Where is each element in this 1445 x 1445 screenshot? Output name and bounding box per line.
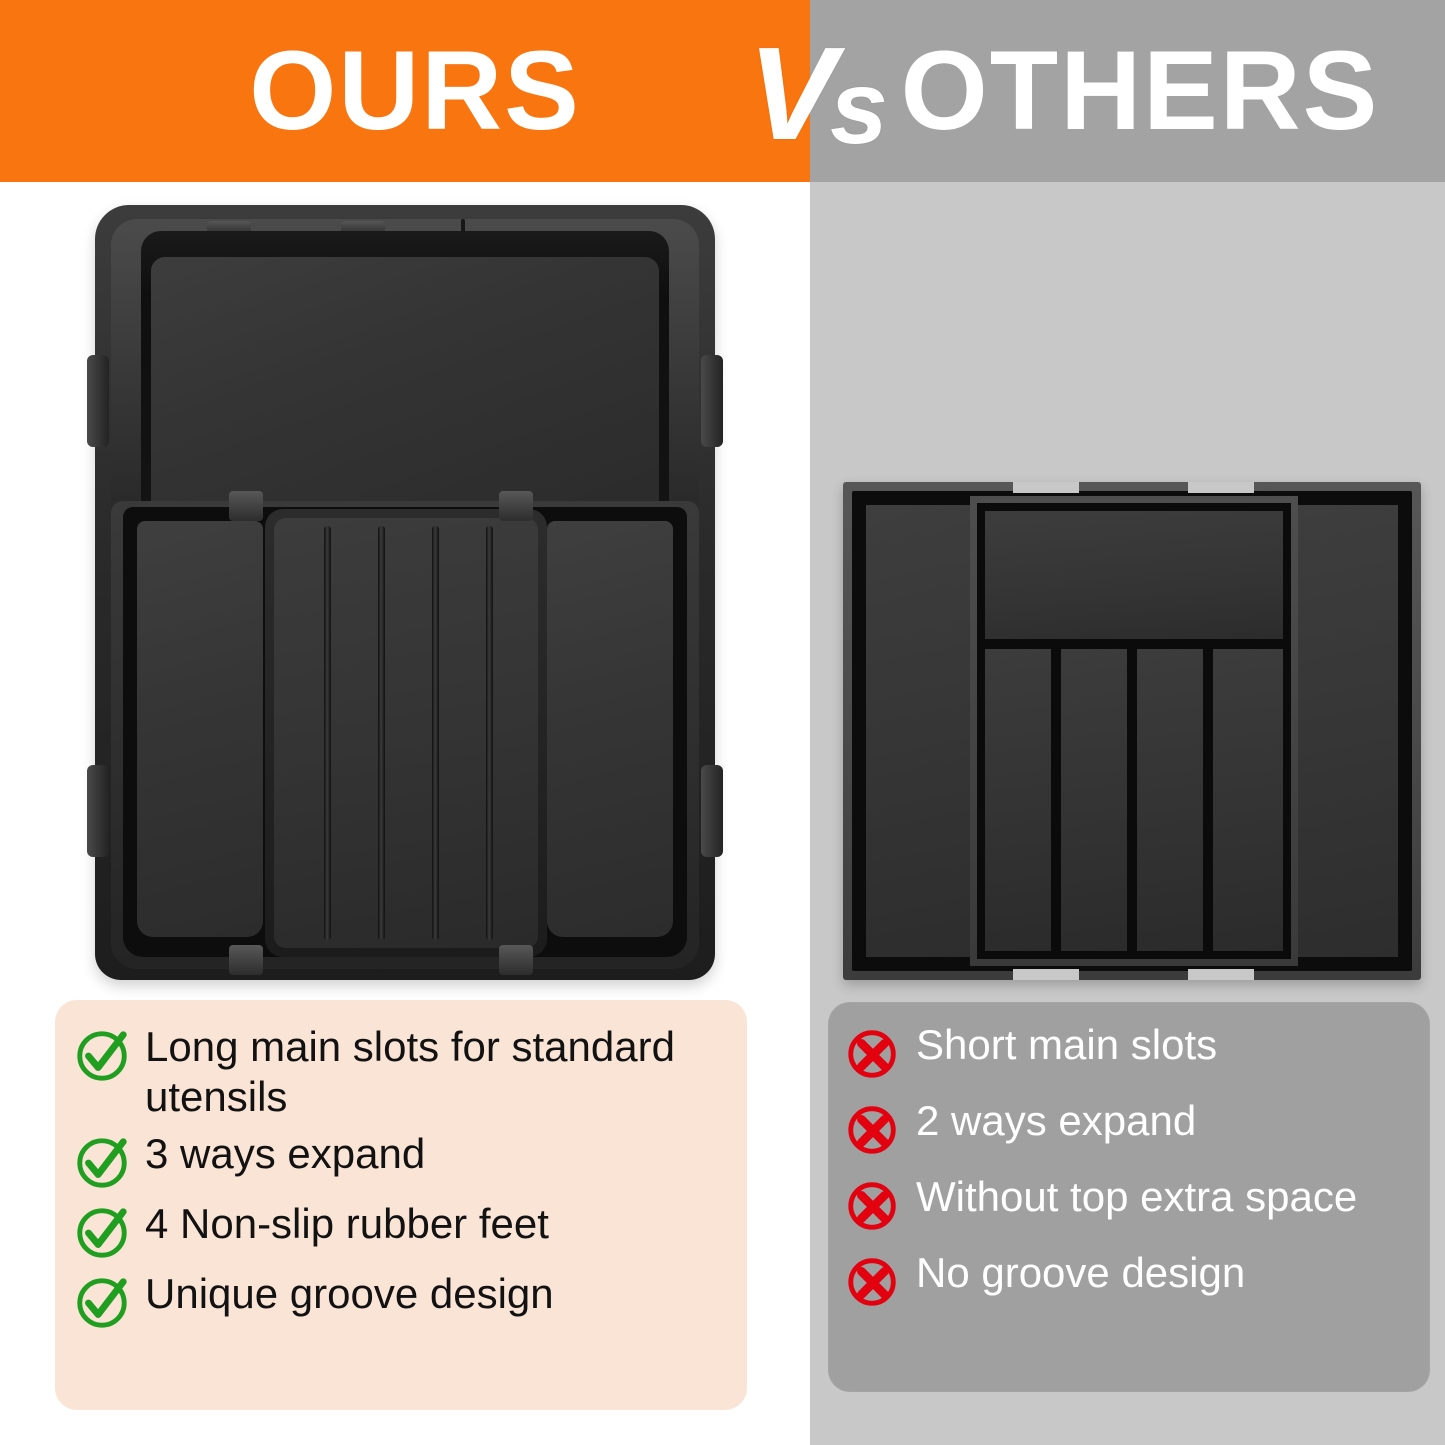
ours-rail-tab-top-left [87, 355, 109, 447]
feature-row: No groove design [844, 1248, 1408, 1310]
feature-row: Short main slots [844, 1020, 1408, 1082]
header-banner: OURS Vs OTHERS [0, 0, 1445, 182]
feature-label: No groove design [916, 1248, 1245, 1298]
others-side-compartment-right [1286, 505, 1398, 957]
product-image-others [843, 482, 1421, 980]
ours-top-well [141, 231, 669, 523]
others-slot-4 [1213, 649, 1283, 951]
header-others-label: OTHERS [905, 0, 1375, 182]
feature-row: Without top extra space [844, 1172, 1408, 1234]
others-insert-top-compartment [985, 511, 1283, 639]
feature-label: Without top extra space [916, 1172, 1357, 1222]
cross-circle-icon [844, 1252, 902, 1310]
others-slot-1 [985, 649, 1051, 951]
ours-divider-2 [378, 526, 385, 940]
comparison-infographic: OURS Vs OTHERS [0, 0, 1445, 1445]
ours-top-extra-space-compartment [111, 219, 699, 539]
check-circle-icon [73, 1133, 131, 1191]
others-slot-3 [1137, 649, 1203, 951]
ours-insert-floor [274, 518, 538, 948]
others-notch-bottom-right [1188, 969, 1254, 980]
others-notch-bottom-left [1013, 969, 1079, 980]
check-circle-icon [73, 1203, 131, 1261]
product-image-ours [95, 205, 715, 980]
cross-circle-icon [844, 1024, 902, 1082]
check-circle-icon [73, 1026, 131, 1084]
others-notch-top-left [1013, 482, 1079, 493]
others-insert-well [977, 503, 1291, 959]
ours-side-compartment-right [547, 521, 673, 937]
feature-label: Long main slots for standard utensils [145, 1022, 721, 1121]
others-notch-top-right [1188, 482, 1254, 493]
feature-row: Long main slots for standard utensils [73, 1022, 721, 1121]
others-side-compartment-left [866, 505, 978, 957]
cross-circle-icon [844, 1100, 902, 1158]
others-slot-group [985, 649, 1283, 951]
feature-label: Unique groove design [145, 1269, 554, 1319]
ours-main-slot-area [111, 501, 699, 969]
ours-rail-tab-bottom-right [701, 765, 723, 857]
feature-row: 2 ways expand [844, 1096, 1408, 1158]
versus-v: V [748, 28, 830, 160]
versus-label: Vs [748, 14, 882, 174]
feature-row: 4 Non-slip rubber feet [73, 1199, 721, 1261]
ours-divider-3 [432, 526, 439, 940]
ours-insert-tab-bottom-right [499, 945, 533, 975]
others-center-insert [970, 496, 1298, 966]
feature-label: 4 Non-slip rubber feet [145, 1199, 549, 1249]
feature-label: Short main slots [916, 1020, 1217, 1070]
ours-divider-4 [486, 526, 493, 940]
ours-side-compartment-left [137, 521, 263, 937]
ours-rail-tab-top-right [701, 355, 723, 447]
ours-main-well [123, 507, 687, 957]
feature-row: 3 ways expand [73, 1129, 721, 1191]
ours-center-insert [265, 509, 547, 957]
versus-s: s [830, 56, 882, 160]
ours-insert-tab-bottom-left [229, 945, 263, 975]
others-slot-2 [1061, 649, 1127, 951]
ours-rail-tab-bottom-left [87, 765, 109, 857]
feature-label: 2 ways expand [916, 1096, 1196, 1146]
features-card-ours: Long main slots for standard utensils 3 … [55, 1000, 747, 1410]
ours-divider-1 [324, 526, 331, 940]
feature-row: Unique groove design [73, 1269, 721, 1331]
ours-insert-tab-top-right [499, 491, 533, 521]
feature-label: 3 ways expand [145, 1129, 425, 1179]
bottom-spacer [0, 1410, 810, 1445]
ours-top-floor [151, 257, 659, 515]
check-circle-icon [73, 1273, 131, 1331]
cross-circle-icon [844, 1176, 902, 1234]
features-card-others: Short main slots 2 ways expand Without t… [828, 1002, 1430, 1392]
ours-insert-tab-top-left [229, 491, 263, 521]
header-ours-label: OURS [180, 0, 650, 182]
